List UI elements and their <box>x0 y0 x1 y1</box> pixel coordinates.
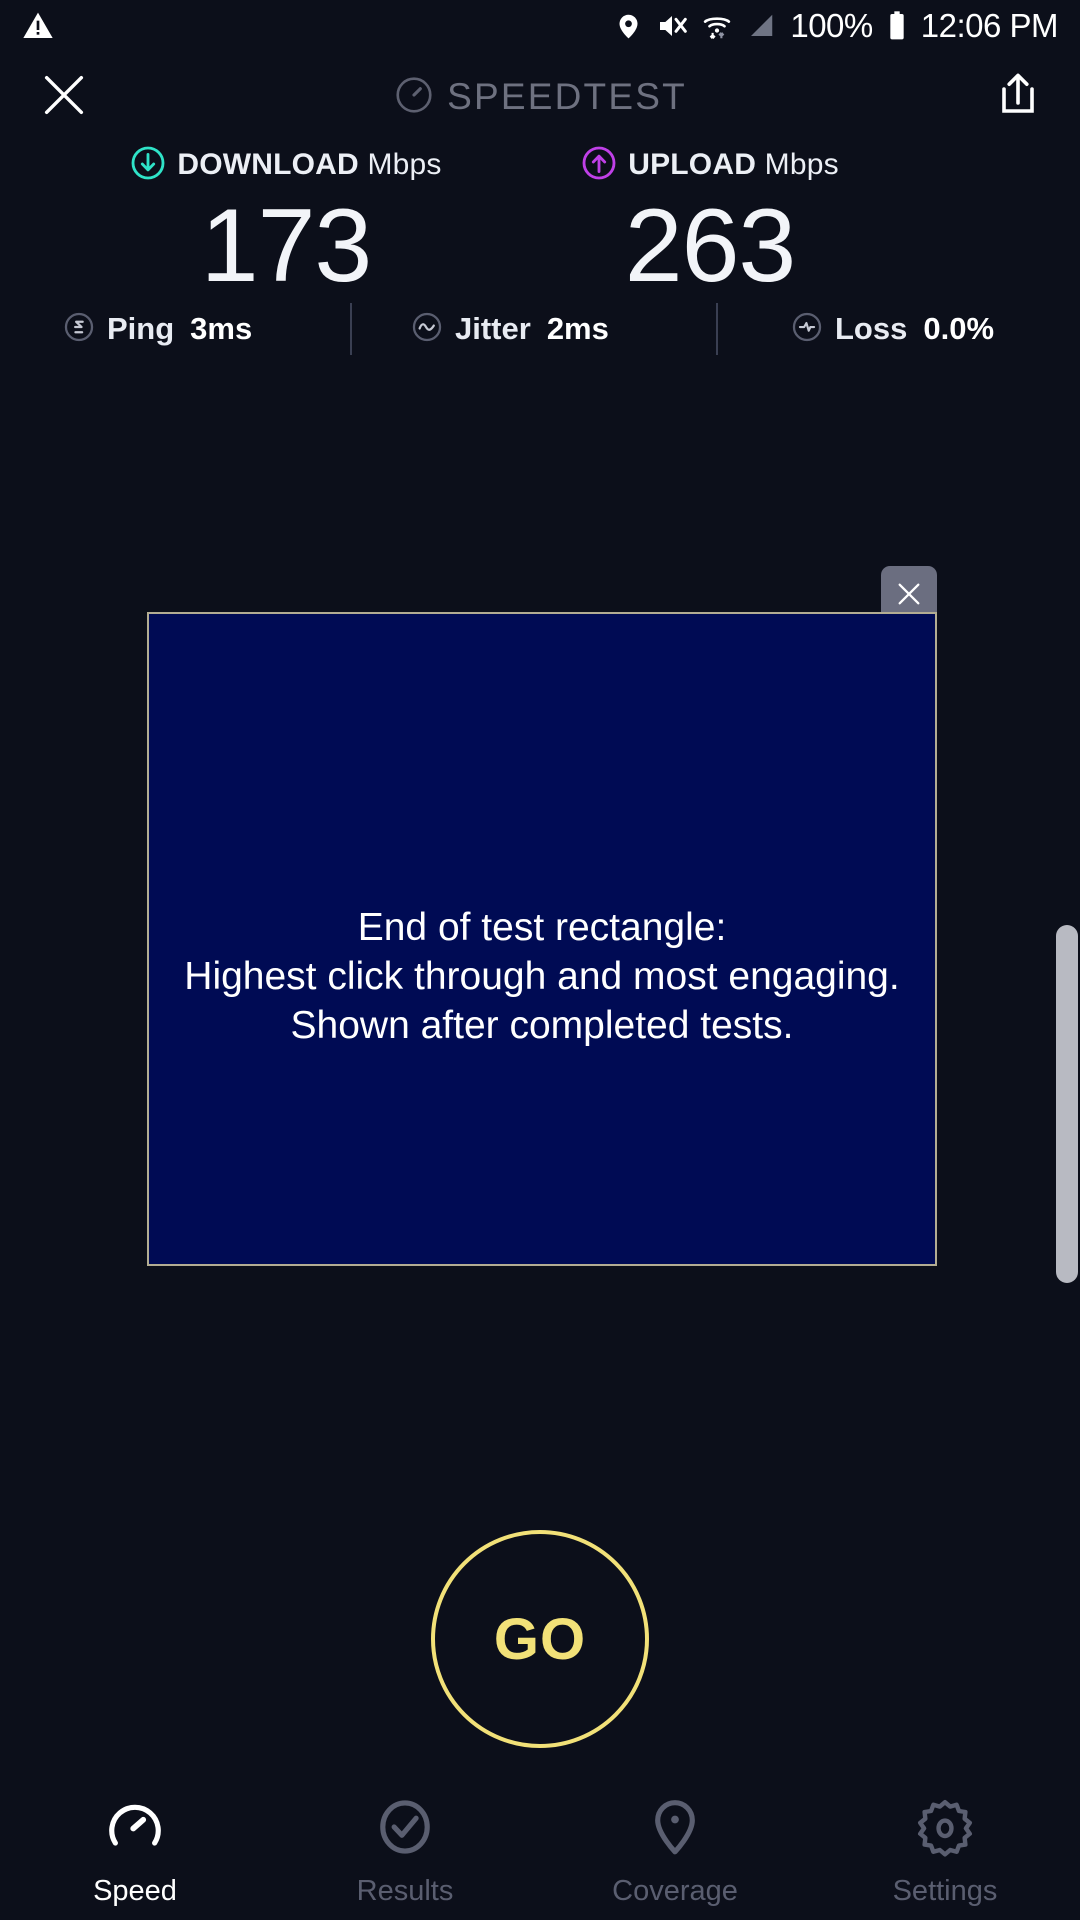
ad-line-2: Highest click through and most engaging. <box>184 952 899 1001</box>
bottom-navigation: Speed Results Coverage <box>0 1780 1080 1920</box>
ad-text-block: End of test rectangle: Highest click thr… <box>184 903 899 1050</box>
metrics-row: Ping 3ms Jitter 2ms Loss 0.0% <box>0 300 1080 358</box>
status-bar: 100% 12:06 PM <box>0 0 1080 52</box>
app-title-block: SPEEDTEST <box>0 74 1080 121</box>
download-label: DOWNLOAD Mbps <box>177 148 441 182</box>
map-pin-icon <box>644 1796 706 1863</box>
location-pin-icon <box>615 10 642 42</box>
vertical-scrollbar[interactable] <box>1056 925 1078 1283</box>
speed-results: DOWNLOAD Mbps 173 UPLOAD Mbps 263 <box>0 142 1080 292</box>
volume-muted-icon <box>656 10 688 42</box>
upload-label: UPLOAD Mbps <box>628 148 839 182</box>
metric-divider-2 <box>716 303 718 355</box>
nav-item-speed[interactable]: Speed <box>0 1780 270 1920</box>
status-bar-left <box>22 10 54 42</box>
app-header: SPEEDTEST <box>0 56 1080 138</box>
nav-item-settings[interactable]: Settings <box>810 1780 1080 1920</box>
nav-label-coverage: Coverage <box>612 1875 738 1908</box>
jitter-icon <box>410 310 444 349</box>
download-value: 173 <box>56 194 516 298</box>
battery-full-icon <box>887 10 907 42</box>
metric-divider-1 <box>350 303 352 355</box>
speedometer-icon <box>104 1796 166 1863</box>
page-title: SPEEDTEST <box>447 76 687 118</box>
nav-label-results: Results <box>357 1875 454 1908</box>
go-button[interactable]: GO <box>431 1530 649 1748</box>
metric-ping: Ping 3ms <box>62 310 252 349</box>
battery-percent-label: 100% <box>790 7 872 45</box>
cellular-signal-icon <box>746 10 776 42</box>
metric-jitter: Jitter 2ms <box>410 310 609 349</box>
status-bar-right: 100% 12:06 PM <box>615 7 1058 45</box>
metric-loss: Loss 0.0% <box>790 310 994 349</box>
metric-jitter-label: Jitter <box>455 311 531 347</box>
upload-value: 263 <box>480 194 940 298</box>
warning-triangle-icon <box>22 10 54 42</box>
speedtest-app-screen: 100% 12:06 PM SPEEDTEST <box>0 0 1080 1920</box>
metric-loss-value: 0.0% <box>923 311 994 347</box>
metric-loss-label: Loss <box>835 311 907 347</box>
upload-result: UPLOAD Mbps 263 <box>480 142 940 298</box>
upload-label-row: UPLOAD Mbps <box>480 142 940 188</box>
nav-label-settings: Settings <box>893 1875 998 1908</box>
clock-label: 12:06 PM <box>921 7 1058 45</box>
check-circle-icon <box>374 1796 436 1863</box>
metric-ping-label: Ping <box>107 311 174 347</box>
metric-jitter-value: 2ms <box>547 311 609 347</box>
ping-icon <box>62 310 96 349</box>
gear-icon <box>914 1796 976 1863</box>
nav-item-results[interactable]: Results <box>270 1780 540 1920</box>
go-button-label: GO <box>494 1606 586 1673</box>
speedtest-gauge-icon <box>393 74 435 121</box>
nav-label-speed: Speed <box>93 1875 177 1908</box>
ad-close-icon <box>893 578 925 610</box>
nav-item-coverage[interactable]: Coverage <box>540 1780 810 1920</box>
wifi-icon <box>702 10 732 42</box>
metric-ping-value: 3ms <box>190 311 252 347</box>
share-button[interactable] <box>994 69 1042 126</box>
download-result: DOWNLOAD Mbps 173 <box>56 142 516 298</box>
ad-line-3: Shown after completed tests. <box>184 1001 899 1050</box>
loss-icon <box>790 310 824 349</box>
download-arrow-icon <box>130 145 166 186</box>
ad-line-1: End of test rectangle: <box>184 903 899 952</box>
close-button[interactable] <box>38 69 90 126</box>
advertisement-banner[interactable]: End of test rectangle: Highest click thr… <box>147 612 937 1266</box>
download-label-row: DOWNLOAD Mbps <box>56 142 516 188</box>
upload-arrow-icon <box>581 145 617 186</box>
